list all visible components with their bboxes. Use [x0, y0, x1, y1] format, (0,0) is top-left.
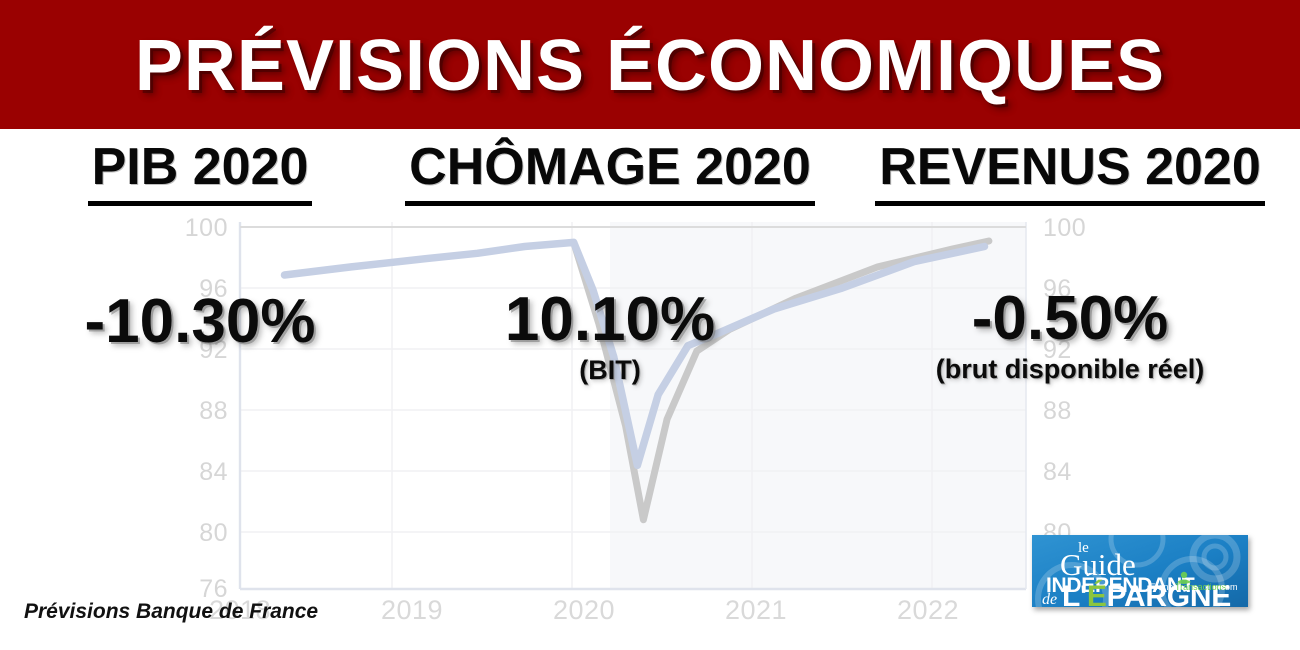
metric-header-revenus: REVENUS 2020 — [875, 140, 1265, 206]
y-tick-right-88: 88 — [1043, 397, 1072, 425]
logo-guide-independant-epargne[interactable]: le Guide INDÉPENDANT de L'ÉPARGNE France… — [1032, 535, 1248, 607]
y-tick-right-84: 84 — [1043, 458, 1072, 486]
infographic-root: 100 96 92 88 84 80 76 100 96 92 88 84 80… — [0, 0, 1300, 650]
source-caption: Prévisions Banque de France — [24, 600, 318, 624]
y-tick-84: 84 — [199, 458, 228, 486]
logo-svg: le Guide INDÉPENDANT de L'ÉPARGNE France… — [1032, 535, 1248, 607]
y-tick-80: 80 — [199, 519, 228, 547]
metric-value-chomage: 10.10% — [400, 289, 820, 351]
page-title: PRÉVISIONS ÉCONOMIQUES — [135, 30, 1165, 102]
metric-value-revenus: -0.50% — [860, 288, 1280, 350]
metric-value-pib: -10.30% — [20, 291, 380, 353]
logo-watermark-france: France — [1150, 582, 1178, 592]
title-banner: PRÉVISIONS ÉCONOMIQUES — [0, 0, 1300, 129]
metric-column-revenus: REVENUS 2020 -0.50% (brut disponible rée… — [860, 129, 1280, 383]
x-tick-labels: 2018 2019 2020 2021 2022 — [209, 595, 959, 625]
x-tick-2021: 2021 — [725, 595, 787, 625]
metric-header-chomage: CHÔMAGE 2020 — [405, 140, 815, 206]
logo-text-de: de — [1042, 591, 1057, 607]
metric-subtitle-chomage: (BIT) — [400, 357, 820, 384]
metric-subtitle-revenus: (brut disponible réel) — [860, 356, 1280, 383]
x-tick-2020: 2020 — [553, 595, 615, 625]
metric-column-chomage: CHÔMAGE 2020 10.10% (BIT) — [400, 129, 820, 384]
metric-column-pib: PIB 2020 -10.30% — [20, 129, 380, 353]
x-tick-2022: 2022 — [897, 595, 959, 625]
logo-epargne-accent: É — [1087, 579, 1107, 607]
logo-watermark-com: .com — [1218, 582, 1238, 592]
logo-epargne-prefix: L' — [1062, 580, 1087, 607]
y-tick-88: 88 — [199, 397, 228, 425]
metric-header-pib: PIB 2020 — [88, 140, 313, 206]
x-tick-2019: 2019 — [381, 595, 443, 625]
